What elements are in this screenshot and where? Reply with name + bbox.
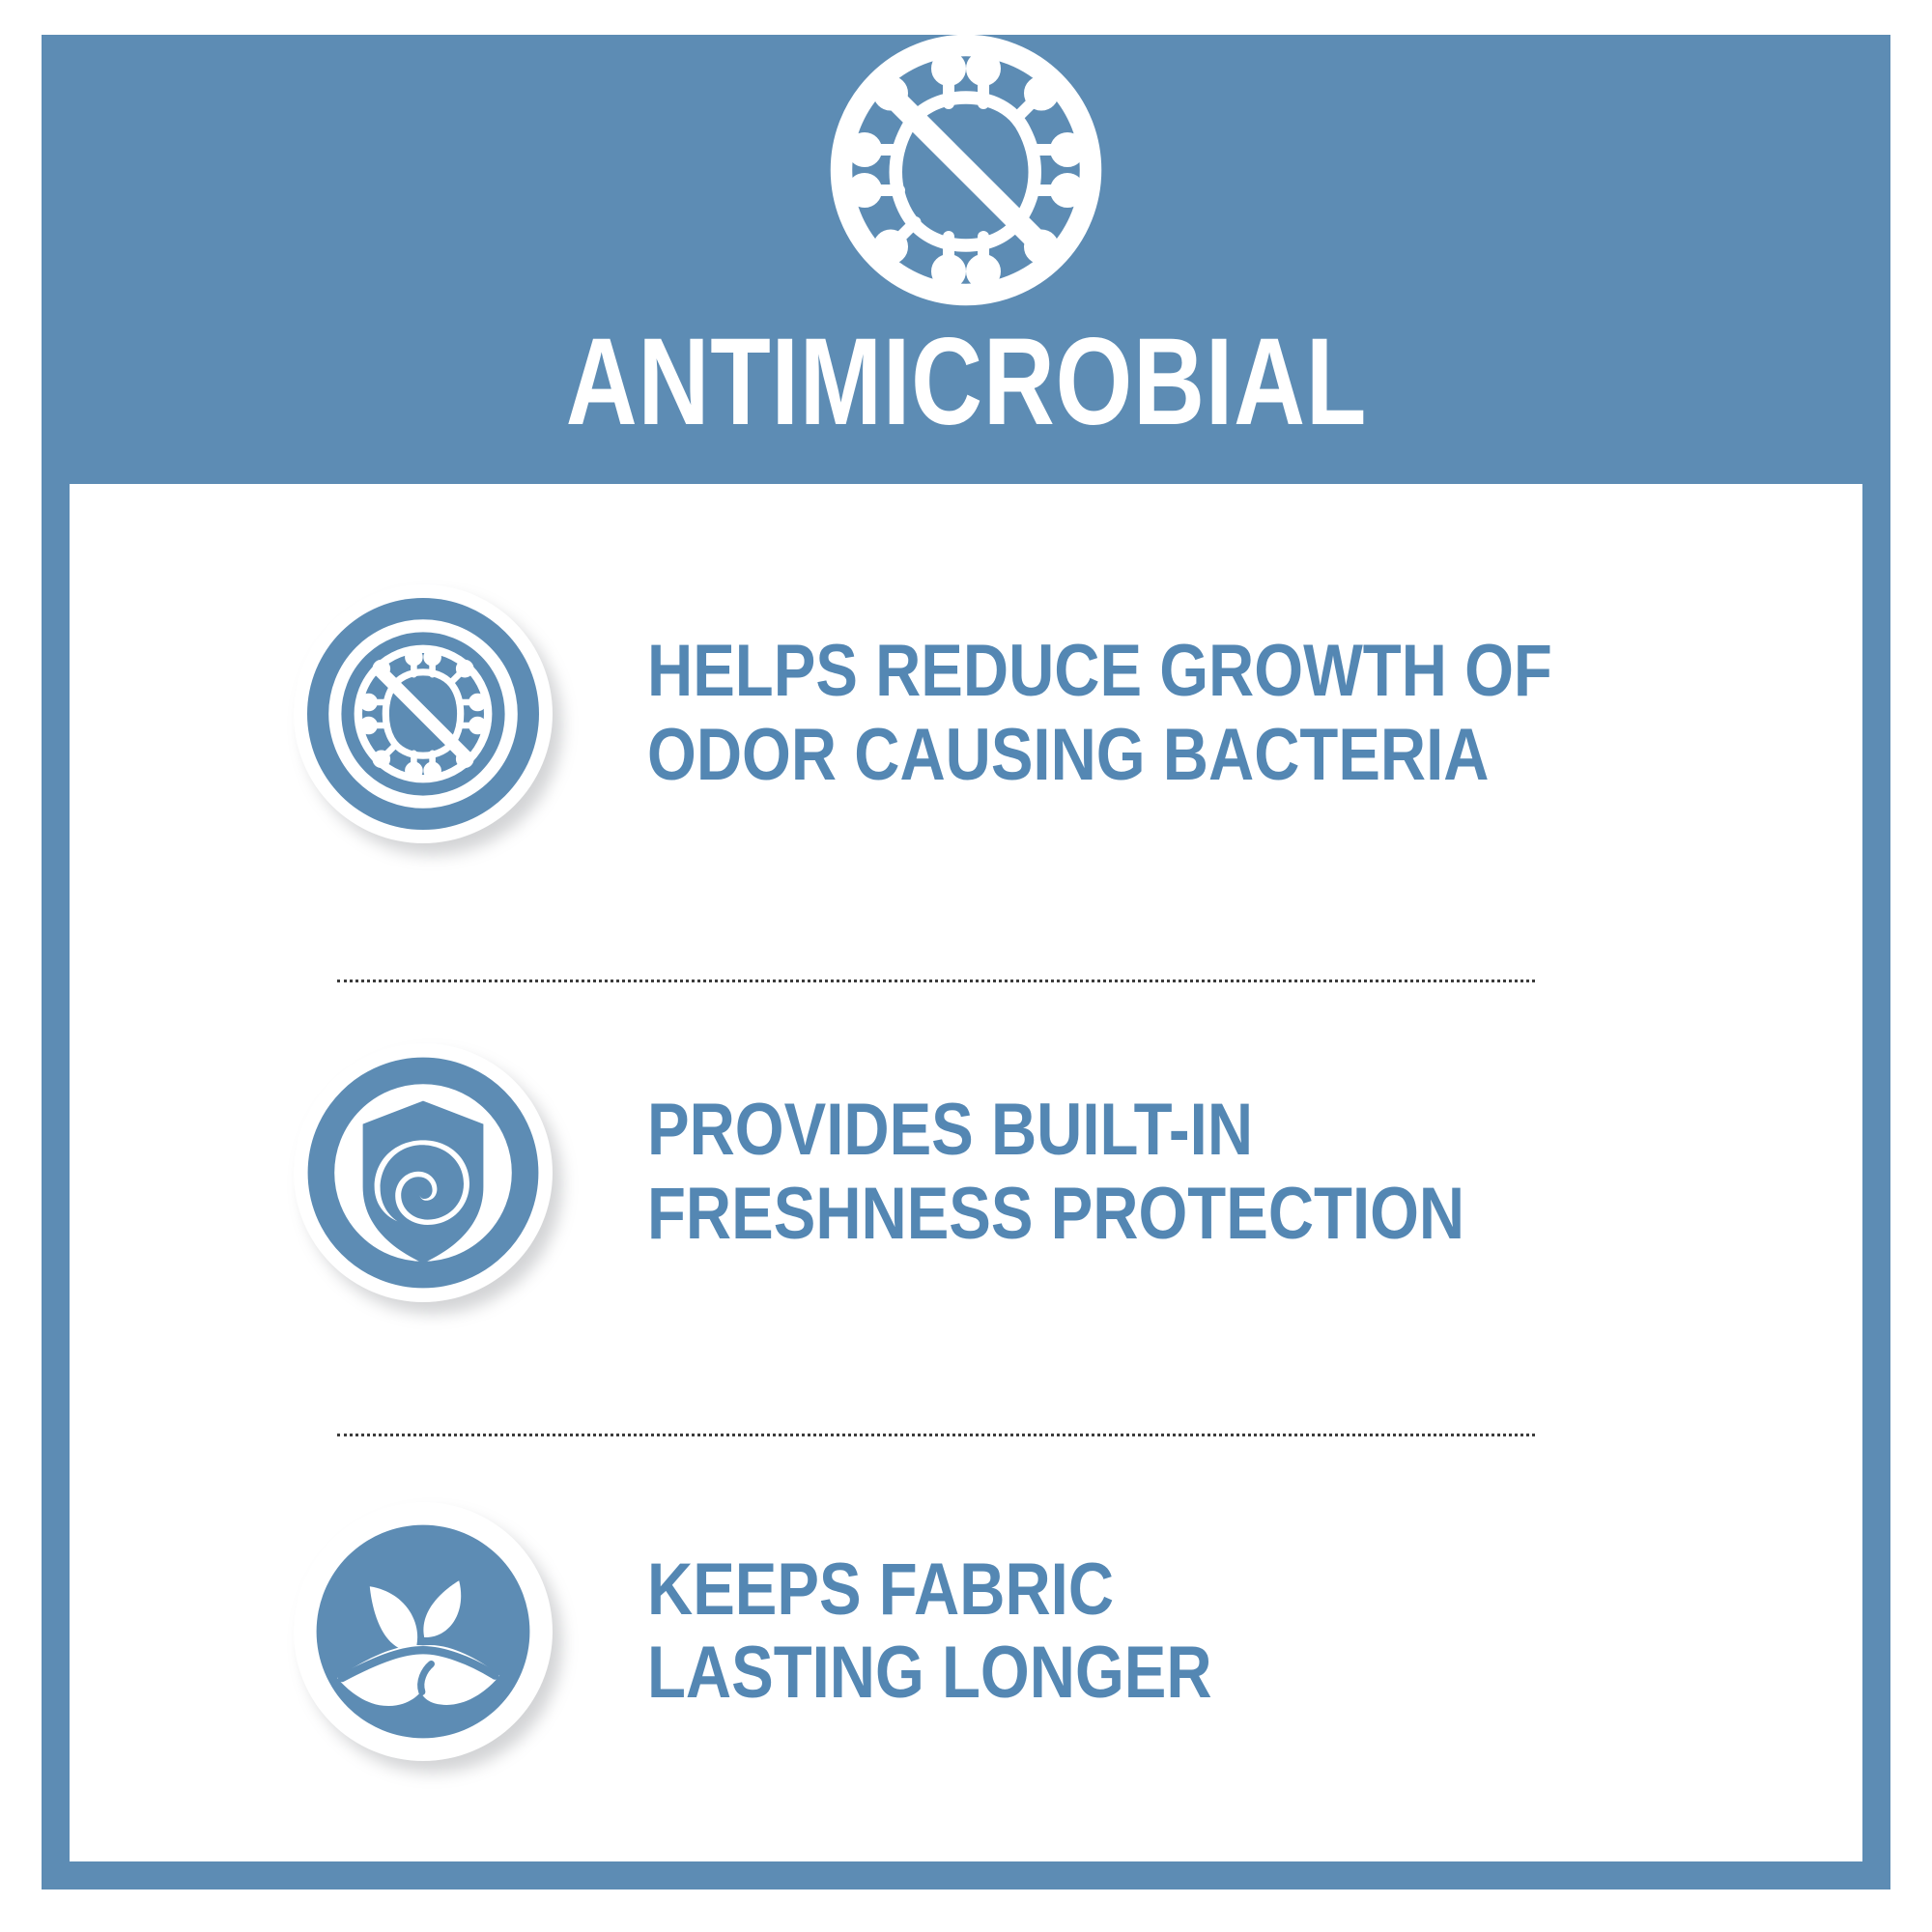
feature-label-line: LASTING LONGER bbox=[647, 1632, 1212, 1716]
row-divider bbox=[337, 1434, 1535, 1436]
features-panel: HELPS REDUCE GROWTH OF ODOR CAUSING BACT… bbox=[70, 484, 1862, 1861]
feature-icon-wrapper bbox=[294, 584, 553, 843]
blue-frame: ANTIMICROBIAL bbox=[42, 35, 1890, 1889]
feature-label-line: HELPS REDUCE GROWTH OF bbox=[647, 630, 1552, 714]
features-list: HELPS REDUCE GROWTH OF ODOR CAUSING BACT… bbox=[70, 484, 1862, 1861]
feature-row-fabric: KEEPS FABRIC LASTING LONGER bbox=[70, 1403, 1862, 1861]
feature-icon-wrapper bbox=[294, 1043, 553, 1302]
feature-label-line: KEEPS FABRIC bbox=[647, 1548, 1212, 1633]
feature-row-freshness: PROVIDES BUILT-IN FRESHNESS PROTECTION bbox=[70, 943, 1862, 1402]
feature-row-bacteria: HELPS REDUCE GROWTH OF ODOR CAUSING BACT… bbox=[70, 484, 1862, 943]
no-virus-icon bbox=[307, 598, 539, 830]
page-title: ANTIMICROBIAL bbox=[565, 321, 1367, 444]
badge-disc bbox=[294, 584, 553, 843]
feature-label: PROVIDES BUILT-IN FRESHNESS PROTECTION bbox=[647, 1089, 1464, 1256]
feature-label: HELPS REDUCE GROWTH OF ODOR CAUSING BACT… bbox=[647, 630, 1552, 797]
feature-label: KEEPS FABRIC LASTING LONGER bbox=[647, 1548, 1212, 1716]
shield-swirl-icon bbox=[307, 1057, 539, 1289]
feature-label-line: FRESHNESS PROTECTION bbox=[647, 1173, 1464, 1257]
feature-icon-wrapper bbox=[294, 1502, 553, 1761]
antimicrobial-infographic: ANTIMICROBIAL bbox=[0, 0, 1932, 1932]
leaf-sprout-icon bbox=[307, 1516, 539, 1747]
no-virus-icon bbox=[821, 25, 1111, 315]
feature-label-line: ODOR CAUSING BACTERIA bbox=[647, 714, 1552, 798]
row-divider bbox=[337, 980, 1535, 982]
header: ANTIMICROBIAL bbox=[42, 35, 1890, 479]
feature-label-line: PROVIDES BUILT-IN bbox=[647, 1089, 1464, 1173]
badge-disc bbox=[294, 1502, 553, 1761]
badge-disc bbox=[294, 1043, 553, 1302]
